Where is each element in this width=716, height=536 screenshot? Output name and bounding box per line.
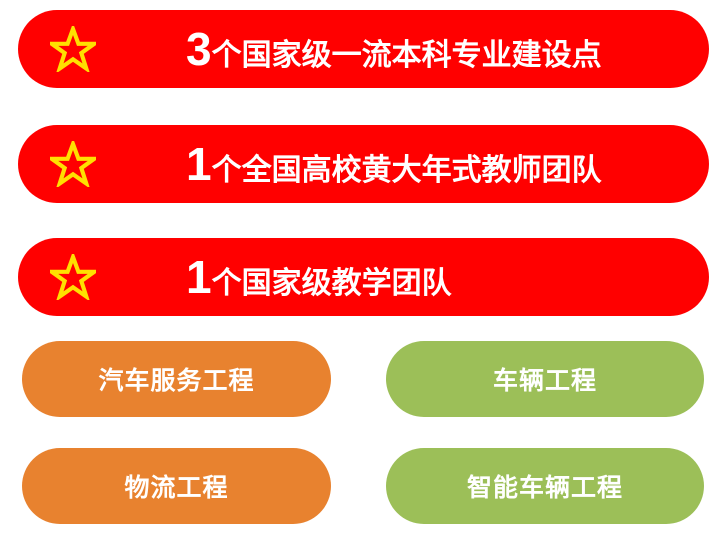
star-outline-icon [50, 254, 96, 300]
banner-number: 3 [186, 26, 211, 72]
banner-label: 个全国高校黄大年式教师团队 [212, 156, 602, 186]
banner-text: 3 个国家级一流本科专业建设点 [186, 26, 689, 72]
achievement-banner: 1 个全国高校黄大年式教师团队 [18, 125, 709, 203]
program-pill[interactable]: 物流工程 [22, 448, 331, 524]
program-pill[interactable]: 智能车辆工程 [386, 448, 704, 524]
achievement-banner: 3 个国家级一流本科专业建设点 [18, 10, 709, 88]
banner-label: 个国家级教学团队 [212, 269, 452, 299]
banner-number: 1 [186, 254, 211, 300]
star-outline-icon [50, 141, 96, 187]
infographic-canvas: 3 个国家级一流本科专业建设点 1 个全国高校黄大年式教师团队 1 个国家级教学… [0, 0, 716, 536]
program-pill[interactable]: 车辆工程 [386, 341, 704, 417]
banner-text: 1 个全国高校黄大年式教师团队 [186, 141, 689, 187]
program-pill[interactable]: 汽车服务工程 [22, 341, 331, 417]
banner-number: 1 [186, 141, 211, 187]
achievement-banner: 1 个国家级教学团队 [18, 238, 709, 316]
banner-label: 个国家级一流本科专业建设点 [212, 41, 602, 71]
banner-text: 1 个国家级教学团队 [186, 254, 689, 300]
star-outline-icon [50, 26, 96, 72]
